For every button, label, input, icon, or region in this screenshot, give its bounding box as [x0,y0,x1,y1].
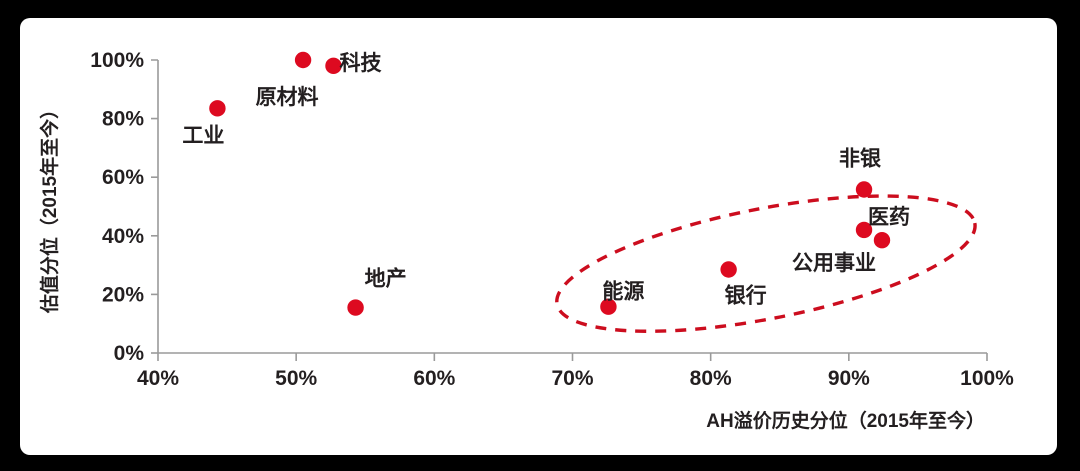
data-point: 银行 [720,261,766,307]
data-point-marker [295,52,311,68]
y-tick-label: 80% [102,108,144,131]
chart-panel: 0%20%40%60%80%100%40%50%60%70%80%90%100%… [20,18,1057,455]
y-tick-label: 0% [114,342,145,365]
data-points: 工业原材料科技地产能源银行非银医药公用事业 [182,51,910,316]
data-point-marker [874,232,890,248]
y-tick-label: 100% [90,49,144,72]
data-point: 原材料 [256,52,319,109]
data-point-label: 公用事业 [792,251,876,275]
x-tick-label: 70% [551,367,593,390]
x-tick-label: 100% [960,367,1014,390]
data-point: 非银 [839,148,882,198]
y-axis-title: 估值分位（2015年至今） [38,100,61,314]
data-point-label: 医药 [868,205,910,229]
data-point: 工业 [182,100,225,147]
annotations [547,169,986,358]
data-point-marker [209,100,225,116]
y-tick-label: 60% [102,166,144,189]
data-point-marker [347,299,363,315]
chart-svg: 0%20%40%60%80%100%40%50%60%70%80%90%100%… [20,18,1057,455]
highlight-ellipse [547,169,986,358]
figure-canvas: 0%20%40%60%80%100%40%50%60%70%80%90%100%… [0,0,1080,471]
data-point-label: 非银 [839,148,882,171]
data-point: 地产 [347,267,406,316]
x-tick-label: 50% [275,367,317,390]
data-point-label: 银行 [725,283,767,307]
y-tick-label: 40% [102,225,144,248]
data-point: 科技 [325,51,382,75]
data-point-label: 能源 [602,280,644,304]
x-tick-label: 80% [690,367,732,390]
data-point-label: 原材料 [256,85,319,109]
scatter-plot: 0%20%40%60%80%100%40%50%60%70%80%90%100%… [20,18,1057,455]
data-point-label: 工业 [182,124,224,147]
x-tick-label: 40% [137,367,179,390]
x-tick-label: 90% [828,367,870,390]
data-point-marker [720,261,736,277]
x-tick-label: 60% [413,367,455,390]
data-point-label: 科技 [339,51,382,75]
y-tick-label: 20% [102,283,144,306]
x-axis-title: AH溢价历史分位（2015年至今） [706,409,985,432]
data-point-marker [856,181,872,197]
data-point: 公用事业 [792,232,890,275]
data-point-label: 地产 [365,267,407,291]
data-point: 能源 [600,280,644,315]
